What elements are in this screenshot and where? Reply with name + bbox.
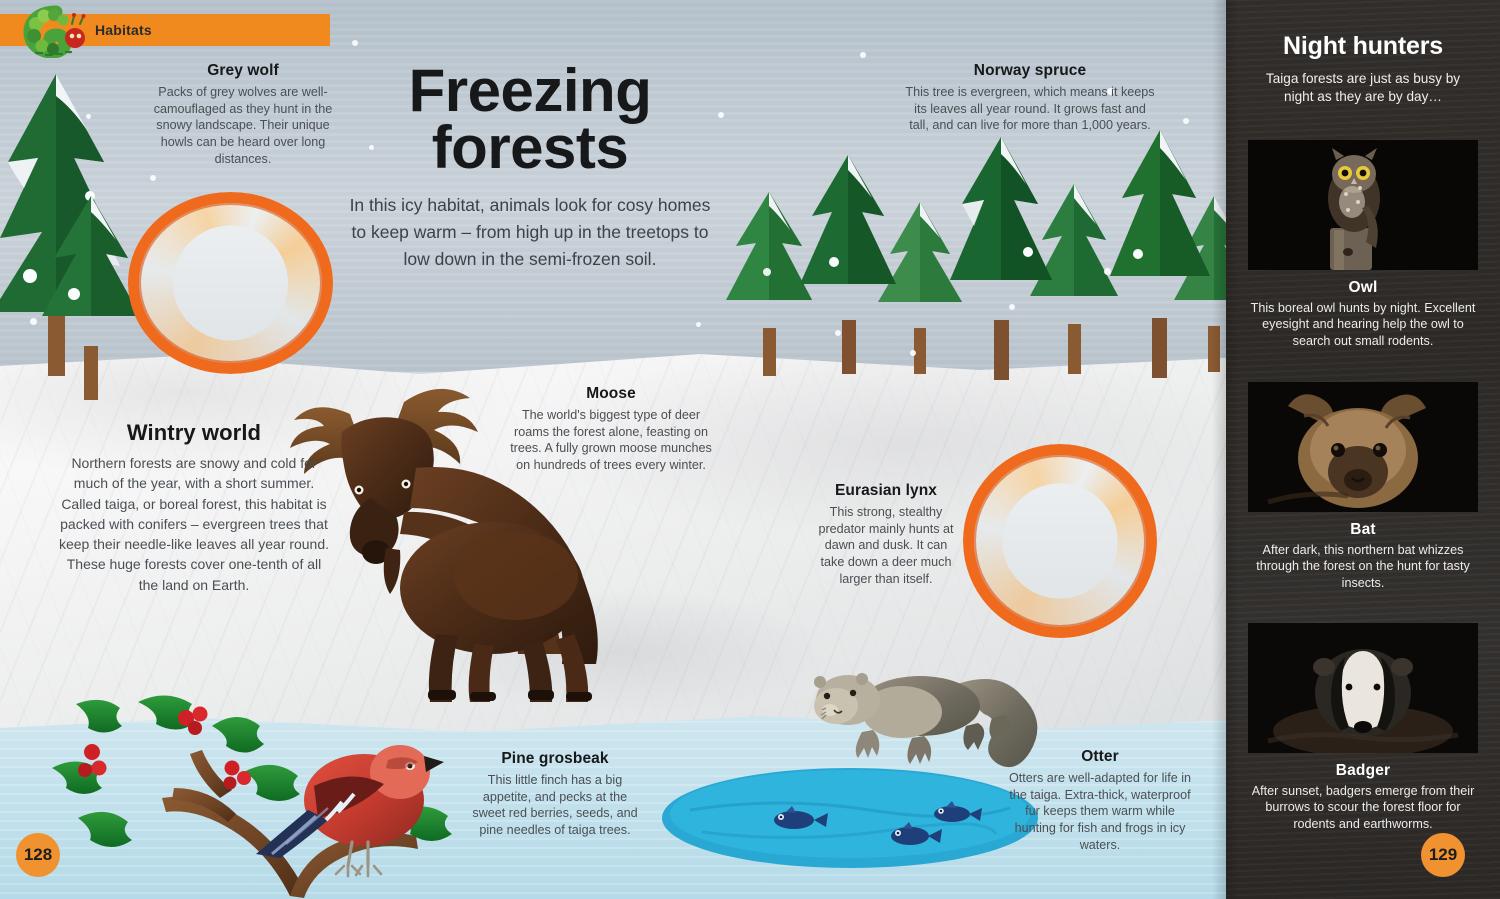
caterpillar-icon <box>22 2 94 58</box>
caption-wintry-world: Wintry world Northern forests are snowy … <box>58 420 330 595</box>
photo-inner <box>138 202 323 364</box>
caption-heading: Eurasian lynx <box>812 482 960 500</box>
caption-heading: Otter <box>1005 748 1195 766</box>
page-title: Freezing forests <box>360 62 700 176</box>
book-page-spread: Habitats Freezing forests In this icy ha… <box>0 0 1500 899</box>
owl-photo[interactable] <box>1248 140 1478 270</box>
snowflake <box>910 350 916 356</box>
title-line-1: Freezing <box>360 62 700 119</box>
sidebar-subtitle: Taiga forests are just as busy by night … <box>1254 70 1472 106</box>
spruce-tree-illustration <box>1094 126 1226 378</box>
snowflake <box>150 175 156 181</box>
page-number-left: 128 <box>16 833 60 877</box>
holly-branch-illustration <box>52 690 472 899</box>
spruce-tree-illustration <box>786 150 914 374</box>
bat-photo[interactable] <box>1248 382 1478 512</box>
caption-heading: Moose <box>505 385 717 403</box>
caption-body: This strong, stealthy predator mainly hu… <box>812 504 960 588</box>
snow-scene <box>138 202 323 364</box>
grey-wolf-photo[interactable] <box>128 192 333 374</box>
snowflake <box>718 112 724 118</box>
banner-label: Habitats <box>95 14 152 46</box>
page-number-right: 129 <box>1421 833 1465 877</box>
sidebar-item-owl[interactable]: Owl This boreal owl hunts by night. Exce… <box>1226 140 1500 349</box>
photo-inner <box>973 454 1147 628</box>
caption-heading: Pine grosbeak <box>470 750 640 768</box>
snowflake <box>1104 268 1111 275</box>
snowflake <box>763 268 771 276</box>
snowflake <box>860 52 866 58</box>
caption-heading: Grey wolf <box>143 62 343 80</box>
snowflake <box>1183 118 1189 124</box>
caption-body: This tree is evergreen, which means it k… <box>905 84 1155 134</box>
otter-illustration <box>790 660 1040 785</box>
sidebar-item-name: Bat <box>1226 521 1500 539</box>
caption-body: Northern forests are snowy and cold for … <box>58 453 330 595</box>
sidebar-item-desc: After sunset, badgers emerge from their … <box>1245 783 1481 832</box>
caption-body: Otters are well-adapted for life in the … <box>1005 770 1195 854</box>
badger-photo[interactable] <box>1248 623 1478 753</box>
eurasian-lynx-photo[interactable] <box>963 444 1157 638</box>
caption-body: Packs of grey wolves are well-camouflage… <box>143 84 343 168</box>
sidebar-item-badger[interactable]: Badger After sunset, badgers emerge from… <box>1226 623 1500 832</box>
night-hunters-sidebar: Night hunters Taiga forests are just as … <box>1226 0 1500 899</box>
caption-eurasian-lynx: Eurasian lynx This strong, stealthy pred… <box>812 482 960 588</box>
snowflake <box>696 322 701 327</box>
caption-moose: Moose The world's biggest type of deer r… <box>505 385 717 474</box>
sidebar-item-name: Owl <box>1226 279 1500 297</box>
sidebar-item-name: Badger <box>1226 762 1500 780</box>
caption-pine-grosbeak: Pine grosbeak This little finch has a bi… <box>470 750 640 839</box>
caption-heading: Wintry world <box>58 420 330 446</box>
snow-scene <box>973 454 1147 628</box>
snowflake <box>352 40 358 46</box>
sidebar-title: Night hunters <box>1226 32 1500 61</box>
sidebar-item-bat[interactable]: Bat After dark, this northern bat whizze… <box>1226 382 1500 591</box>
main-page: Habitats Freezing forests In this icy ha… <box>0 0 1226 899</box>
caption-grey-wolf: Grey wolf Packs of grey wolves are well-… <box>143 62 343 168</box>
snowflake <box>835 330 841 336</box>
caption-norway-spruce: Norway spruce This tree is evergreen, wh… <box>905 62 1155 134</box>
caption-body: This little finch has a big appetite, an… <box>470 772 640 839</box>
sidebar-item-desc: This boreal owl hunts by night. Excellen… <box>1245 300 1481 349</box>
intro-paragraph: In this icy habitat, animals look for co… <box>348 192 712 273</box>
spruce-tree-illustration <box>932 132 1072 380</box>
sidebar-item-desc: After dark, this northern bat whizzes th… <box>1245 542 1481 591</box>
title-line-2: forests <box>360 119 700 176</box>
caption-body: The world's biggest type of deer roams t… <box>505 407 717 474</box>
caption-otter: Otter Otters are well-adapted for life i… <box>1005 748 1195 854</box>
caption-heading: Norway spruce <box>905 62 1155 80</box>
